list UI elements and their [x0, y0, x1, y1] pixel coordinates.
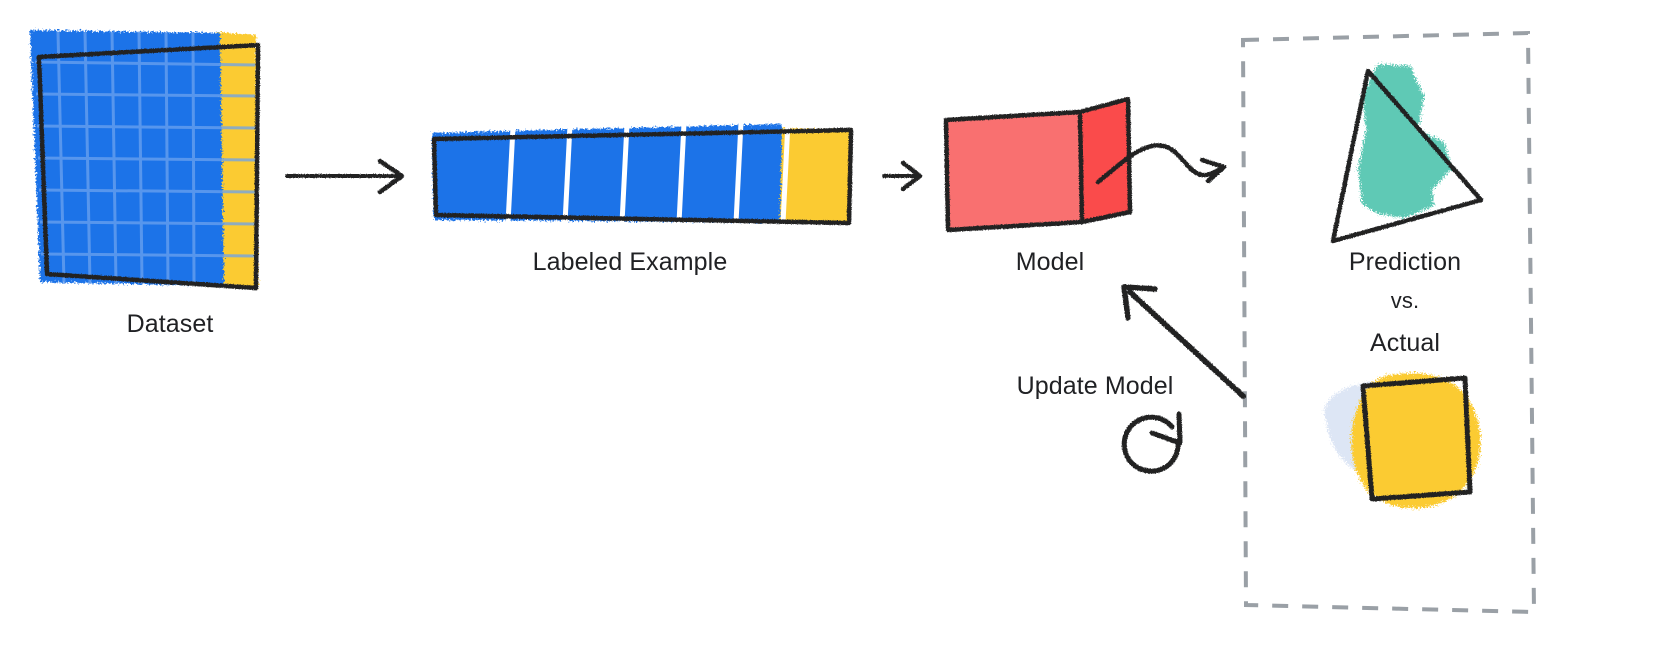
dataset-label: Dataset — [60, 310, 280, 339]
arrow-dataset-to-labeled-example — [287, 161, 402, 192]
labeled-example-group — [432, 122, 851, 223]
labeled-example-label: Labeled Example — [495, 248, 765, 277]
vs-label: vs. — [1290, 288, 1520, 314]
update-model-label: Update Model — [1000, 372, 1190, 401]
model-group — [946, 99, 1130, 230]
prediction-label: Prediction — [1290, 248, 1520, 277]
model-label: Model — [955, 248, 1145, 277]
dataset-group — [30, 30, 258, 288]
actual-label: Actual — [1290, 329, 1520, 358]
arrow-labeled-example-to-model — [884, 163, 920, 189]
refresh-loop-icon — [1124, 414, 1180, 471]
prediction-group — [1333, 64, 1481, 241]
diagram-canvas: Dataset Labeled Example Model Prediction… — [0, 0, 1660, 668]
actual-group — [1324, 373, 1480, 508]
prediction-blob — [1358, 64, 1452, 218]
